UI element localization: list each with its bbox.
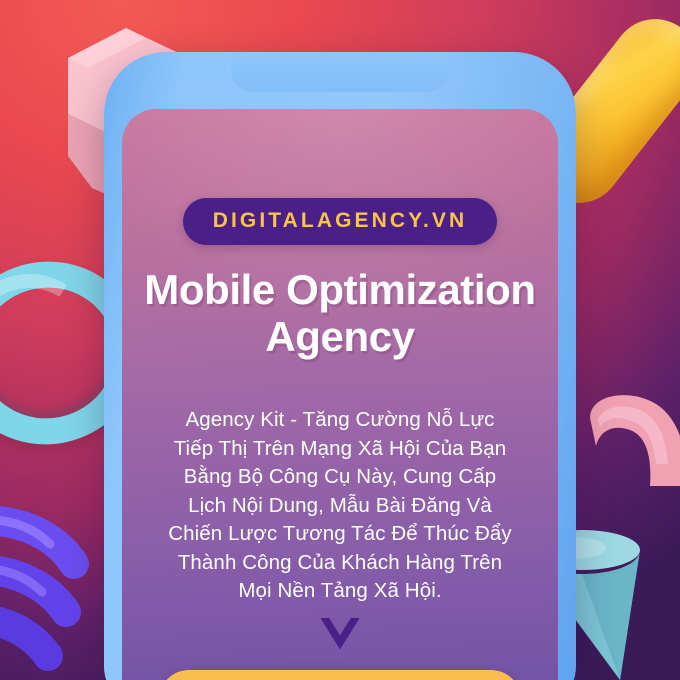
screen-content: DIGITALAGENCY.VN Mobile Optimization Age… (122, 109, 558, 680)
brand-badge[interactable]: DIGITALAGENCY.VN (183, 198, 498, 245)
pink-curved-tube-shape (586, 386, 680, 496)
phone-notch (231, 52, 449, 92)
phone-mockup: DIGITALAGENCY.VN Mobile Optimization Age… (104, 52, 576, 680)
poster-canvas: DIGITALAGENCY.VN Mobile Optimization Age… (0, 0, 680, 680)
description-paragraph: Agency Kit - Tăng Cường Nỗ Lực Tiếp Thị … (167, 406, 513, 606)
cta-button[interactable]: DIGITALPRODUCTS.VN (159, 670, 521, 680)
page-title: Mobile Optimization Agency (144, 266, 536, 360)
purple-spiral-shape (0, 498, 116, 680)
chevron-down-icon (320, 618, 360, 650)
phone-screen: DIGITALAGENCY.VN Mobile Optimization Age… (122, 109, 558, 680)
